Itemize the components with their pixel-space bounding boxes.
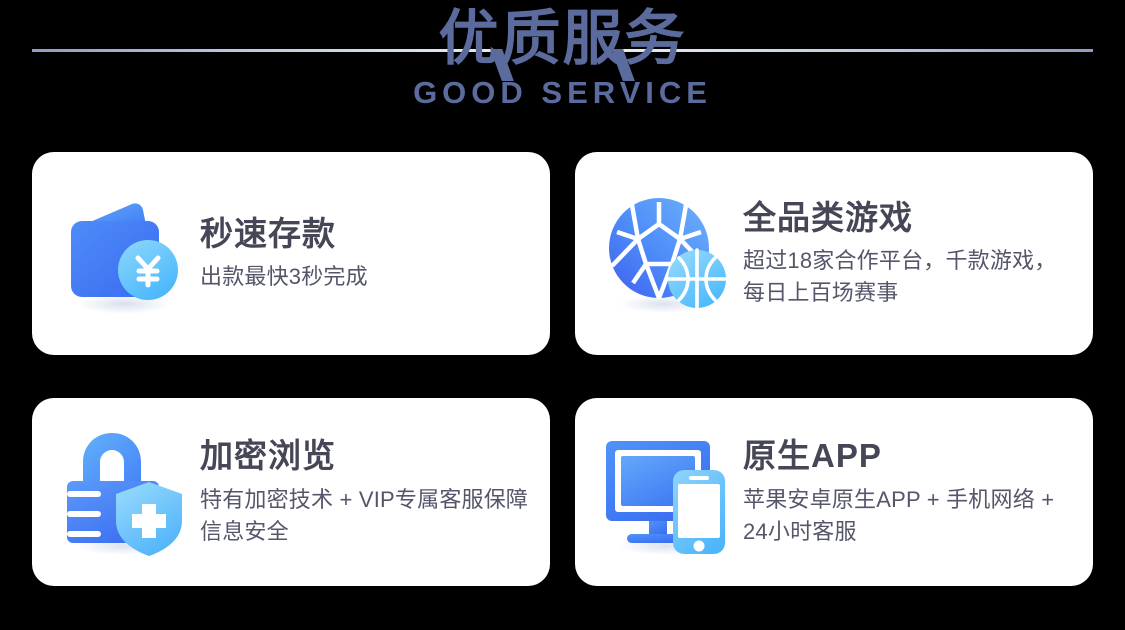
card-text-block: 全品类游戏 超过18家合作平台，千款游戏，每日上百场赛事 (743, 198, 1075, 309)
soccer-basketball-icon (601, 188, 733, 320)
card-description: 出款最快3秒完成 (200, 261, 532, 293)
feature-card-encryption[interactable]: 加密浏览 特有加密技术 + VIP专属客服保障信息安全 (32, 398, 550, 586)
feature-card-deposit[interactable]: 秒速存款 出款最快3秒完成 (32, 152, 550, 355)
card-text-block: 加密浏览 特有加密技术 + VIP专属客服保障信息安全 (200, 436, 532, 547)
promo-banner: 优质服务 GOOD SERVICE (0, 0, 1125, 630)
card-title: 全品类游戏 (743, 198, 1075, 238)
wallet-yen-icon (58, 188, 190, 320)
card-description: 苹果安卓原生APP + 手机网络 + 24小时客服 (743, 484, 1075, 548)
feature-card-grid: 秒速存款 出款最快3秒完成 (32, 152, 1093, 586)
banner-header: 优质服务 GOOD SERVICE (0, 0, 1125, 150)
lock-shield-icon (58, 426, 190, 558)
page-title: 优质服务 (0, 6, 1125, 73)
card-description: 特有加密技术 + VIP专属客服保障信息安全 (200, 484, 532, 548)
card-description: 超过18家合作平台，千款游戏，每日上百场赛事 (743, 245, 1075, 309)
card-title: 加密浏览 (200, 436, 532, 476)
card-title: 原生APP (743, 436, 1075, 476)
title-block: 优质服务 GOOD SERVICE (0, 6, 1125, 111)
feature-card-native-app[interactable]: 原生APP 苹果安卓原生APP + 手机网络 + 24小时客服 (575, 398, 1093, 586)
card-text-block: 原生APP 苹果安卓原生APP + 手机网络 + 24小时客服 (743, 436, 1075, 547)
page-subtitle: GOOD SERVICE (0, 75, 1125, 111)
feature-card-games[interactable]: 全品类游戏 超过18家合作平台，千款游戏，每日上百场赛事 (575, 152, 1093, 355)
card-title: 秒速存款 (200, 214, 532, 254)
monitor-phone-icon (601, 426, 733, 558)
card-text-block: 秒速存款 出款最快3秒完成 (200, 214, 532, 293)
